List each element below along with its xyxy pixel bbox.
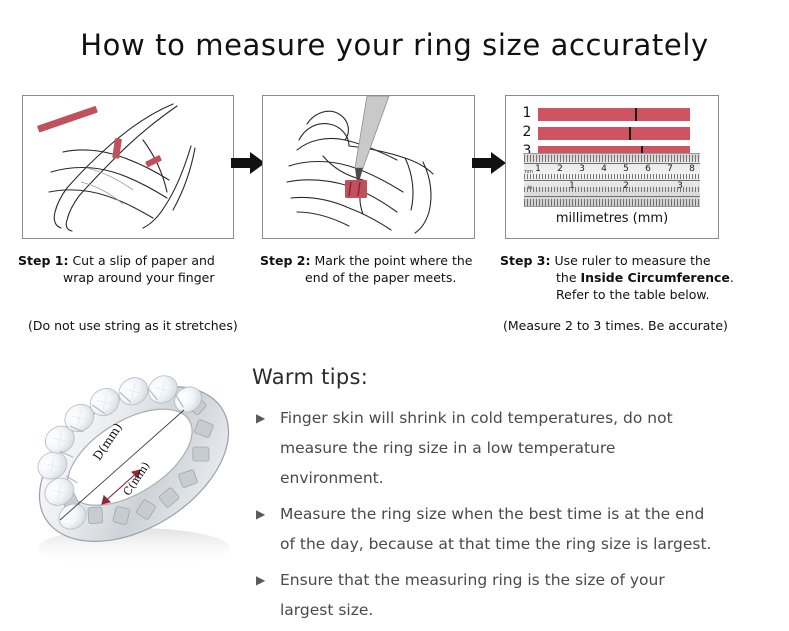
triangle-bullet-icon: ▶ — [256, 565, 265, 595]
step-2-caption-line-2: end of the paper meets. — [260, 269, 486, 286]
strip-bar — [538, 108, 690, 121]
strip-mark — [635, 108, 637, 121]
ruler-cm-tick: 6 — [645, 164, 651, 174]
ruler-tick-band-top — [524, 155, 700, 162]
warm-tips-list: ▶ Finger skin will shrink in cold temper… — [252, 403, 722, 631]
step-2-illustration-panel — [262, 95, 475, 239]
page-title: How to measure your ring size accurately — [0, 28, 789, 62]
step-2-caption: Step 2: Mark the point where the end of … — [260, 252, 486, 286]
warm-tip-item: ▶ Ensure that the measuring ring is the … — [252, 565, 722, 625]
step-3-caption-line-1: Step 3: Use ruler to measure the — [500, 252, 750, 269]
step-3-note: (Measure 2 to 3 times. Be accurate) — [503, 318, 728, 333]
step-1-caption: Step 1: Cut a slip of paper and wrap aro… — [18, 252, 250, 286]
ruler-tick-band-mid2 — [524, 187, 700, 192]
warm-tip-text: Measure the ring size when the best time… — [280, 505, 712, 553]
step-3-caption-line-2: the Inside Circumference. — [500, 269, 750, 286]
step-3-text-2-suffix: . — [730, 270, 734, 285]
strip-number: 1 — [520, 105, 534, 121]
step-1-label: Step 1: — [18, 253, 68, 268]
step-1-caption-line-2: wrap around your finger — [18, 269, 250, 286]
warm-tip-text: Finger skin will shrink in cold temperat… — [280, 409, 673, 487]
step-3-label: Step 3: — [500, 253, 550, 268]
hand-marking-paper-with-pen-icon — [263, 96, 474, 238]
step-1-caption-line-1: Step 1: Cut a slip of paper and — [18, 252, 250, 269]
ring-size-guide-page: How to measure your ring size accurately — [0, 0, 789, 606]
strip-bar — [538, 127, 690, 140]
ruler-cm-tick: 7 — [667, 164, 673, 174]
step-2-text-1: Mark the point where the — [314, 253, 472, 268]
step-3-caption: Step 3: Use ruler to measure the the Ins… — [500, 252, 750, 303]
step-3-caption-line-3: Refer to the table below. — [500, 286, 750, 303]
step-3-illustration-panel: 1 2 3 mm 1 2 3 4 — [505, 95, 719, 239]
ruler-cm-tick: 2 — [557, 164, 563, 174]
ruler-cm-tick: 3 — [579, 164, 585, 174]
ruler-icon: mm 1 2 3 4 5 6 7 8 in 1 2 3 — [524, 153, 700, 207]
inside-circumference-emphasis: Inside Circumference — [581, 270, 730, 285]
strip-mark — [629, 127, 631, 140]
arrow-right-icon-2 — [472, 150, 506, 176]
step-2-caption-line-1: Step 2: Mark the point where the — [260, 252, 486, 269]
ruler-hairline — [524, 196, 700, 197]
ruler-cm-tick: 4 — [601, 164, 607, 174]
warm-tip-item: ▶ Finger skin will shrink in cold temper… — [252, 403, 722, 493]
step-3-text-1: Use ruler to measure the — [554, 253, 710, 268]
triangle-bullet-icon: ▶ — [256, 499, 265, 529]
arrow-right-icon-1 — [231, 150, 265, 176]
step-3-text-2-prefix: the — [556, 270, 581, 285]
ruler-cm-tick: 8 — [689, 164, 695, 174]
hand-with-paper-strip-icon — [23, 96, 233, 238]
step-1-illustration-panel — [22, 95, 234, 239]
triangle-bullet-icon: ▶ — [256, 403, 265, 433]
step-1-note: (Do not use string as it stretches) — [28, 318, 238, 333]
ruler-tick-band-mid — [524, 174, 700, 179]
strip-number: 2 — [520, 124, 534, 140]
step-1-text-1: Cut a slip of paper and — [72, 253, 214, 268]
warm-tip-item: ▶ Measure the ring size when the best ti… — [252, 499, 722, 559]
ruler-unit-caption: millimetres (mm) — [506, 211, 718, 226]
ruler-tick-band-bottom — [524, 199, 700, 206]
warm-tip-text: Ensure that the measuring ring is the si… — [280, 571, 665, 619]
step-2-label: Step 2: — [260, 253, 310, 268]
ruler-cm-tick: 1 — [535, 164, 541, 174]
ruler-cm-tick: 5 — [623, 164, 629, 174]
ring-diagram: D(mm) C(mm) — [18, 352, 253, 588]
warm-tips-heading: Warm tips: — [252, 365, 368, 389]
